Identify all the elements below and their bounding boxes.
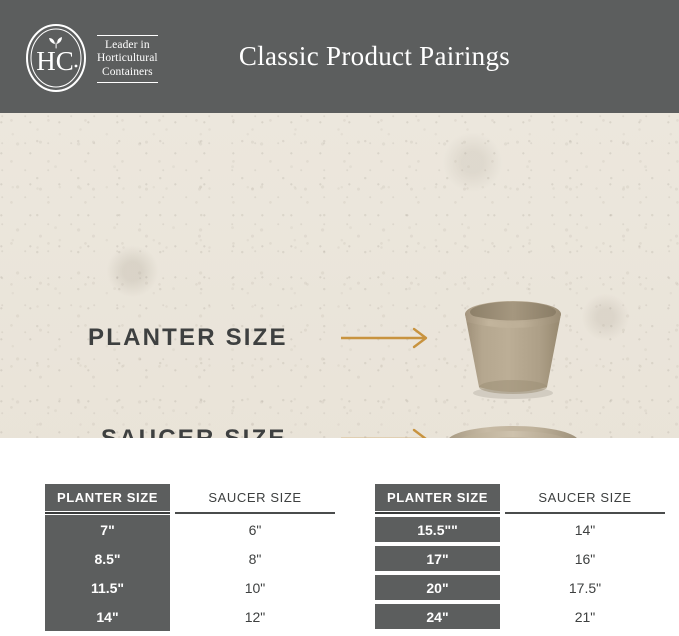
table-row: 24" 21"	[375, 602, 665, 631]
cell-planter-size: 24"	[375, 604, 500, 629]
column-header-saucer-size: SAUCER SIZE	[175, 484, 335, 511]
table-row: 7" 6"	[45, 515, 335, 544]
table-header-row: PLANTER SIZE SAUCER SIZE	[375, 484, 665, 511]
table-row: 14" 12"	[45, 602, 335, 631]
arrow-right-icon	[341, 428, 433, 438]
saucer-dish-image	[438, 418, 588, 438]
arrow-right-icon	[341, 327, 433, 354]
header-underline-saucer	[175, 512, 335, 514]
column-header-planter-size: PLANTER SIZE	[45, 484, 170, 511]
cell-saucer-size: 8"	[175, 544, 335, 573]
hero-label-saucer-size: SAUCER SIZE	[101, 425, 287, 438]
column-header-planter-size: PLANTER SIZE	[375, 484, 500, 511]
hero-label-planter-size: PLANTER SIZE	[88, 324, 288, 352]
table-body: 15.5"" 14" 17" 16" 20" 17.5" 24" 21"	[375, 515, 665, 631]
table-header-row: PLANTER SIZE SAUCER SIZE	[45, 484, 335, 511]
page-title: Classic Product Pairings	[0, 0, 679, 113]
cell-planter-size: 15.5""	[375, 517, 500, 542]
header-underline-planter	[45, 512, 170, 514]
table-row: 8.5" 8"	[45, 544, 335, 573]
cell-planter-size: 8.5"	[45, 544, 170, 573]
table-row: 17" 16"	[375, 544, 665, 573]
table-row: 20" 17.5"	[375, 573, 665, 602]
cell-planter-size: 17"	[375, 546, 500, 571]
hero-section: PLANTER SIZE	[0, 113, 679, 438]
cell-planter-size: 11.5"	[45, 573, 170, 602]
cell-saucer-size: 16"	[505, 544, 665, 573]
cell-saucer-size: 14"	[505, 515, 665, 544]
cell-saucer-size: 6"	[175, 515, 335, 544]
cell-saucer-size: 12"	[175, 602, 335, 631]
cell-saucer-size: 10"	[175, 573, 335, 602]
table-body: 7" 6" 8.5" 8" 11.5" 10" 14" 12"	[45, 515, 335, 631]
header-underline-saucer	[505, 512, 665, 514]
planter-pot-image	[443, 281, 583, 408]
cell-planter-size: 20"	[375, 575, 500, 600]
header-underline-planter	[375, 512, 500, 514]
size-table-small: PLANTER SIZE SAUCER SIZE 7" 6" 8.5" 8" 1…	[45, 484, 335, 632]
column-header-saucer-size: SAUCER SIZE	[505, 484, 665, 511]
page-header: HC Leader in Horticultural Containers Cl…	[0, 0, 679, 113]
cell-planter-size: 7"	[45, 515, 170, 544]
cell-planter-size: 14"	[45, 602, 170, 631]
table-row: 11.5" 10"	[45, 573, 335, 602]
size-table-large: PLANTER SIZE SAUCER SIZE 15.5"" 14" 17" …	[375, 484, 665, 632]
table-row: 15.5"" 14"	[375, 515, 665, 544]
cell-saucer-size: 21"	[505, 602, 665, 631]
cell-saucer-size: 17.5"	[505, 573, 665, 602]
